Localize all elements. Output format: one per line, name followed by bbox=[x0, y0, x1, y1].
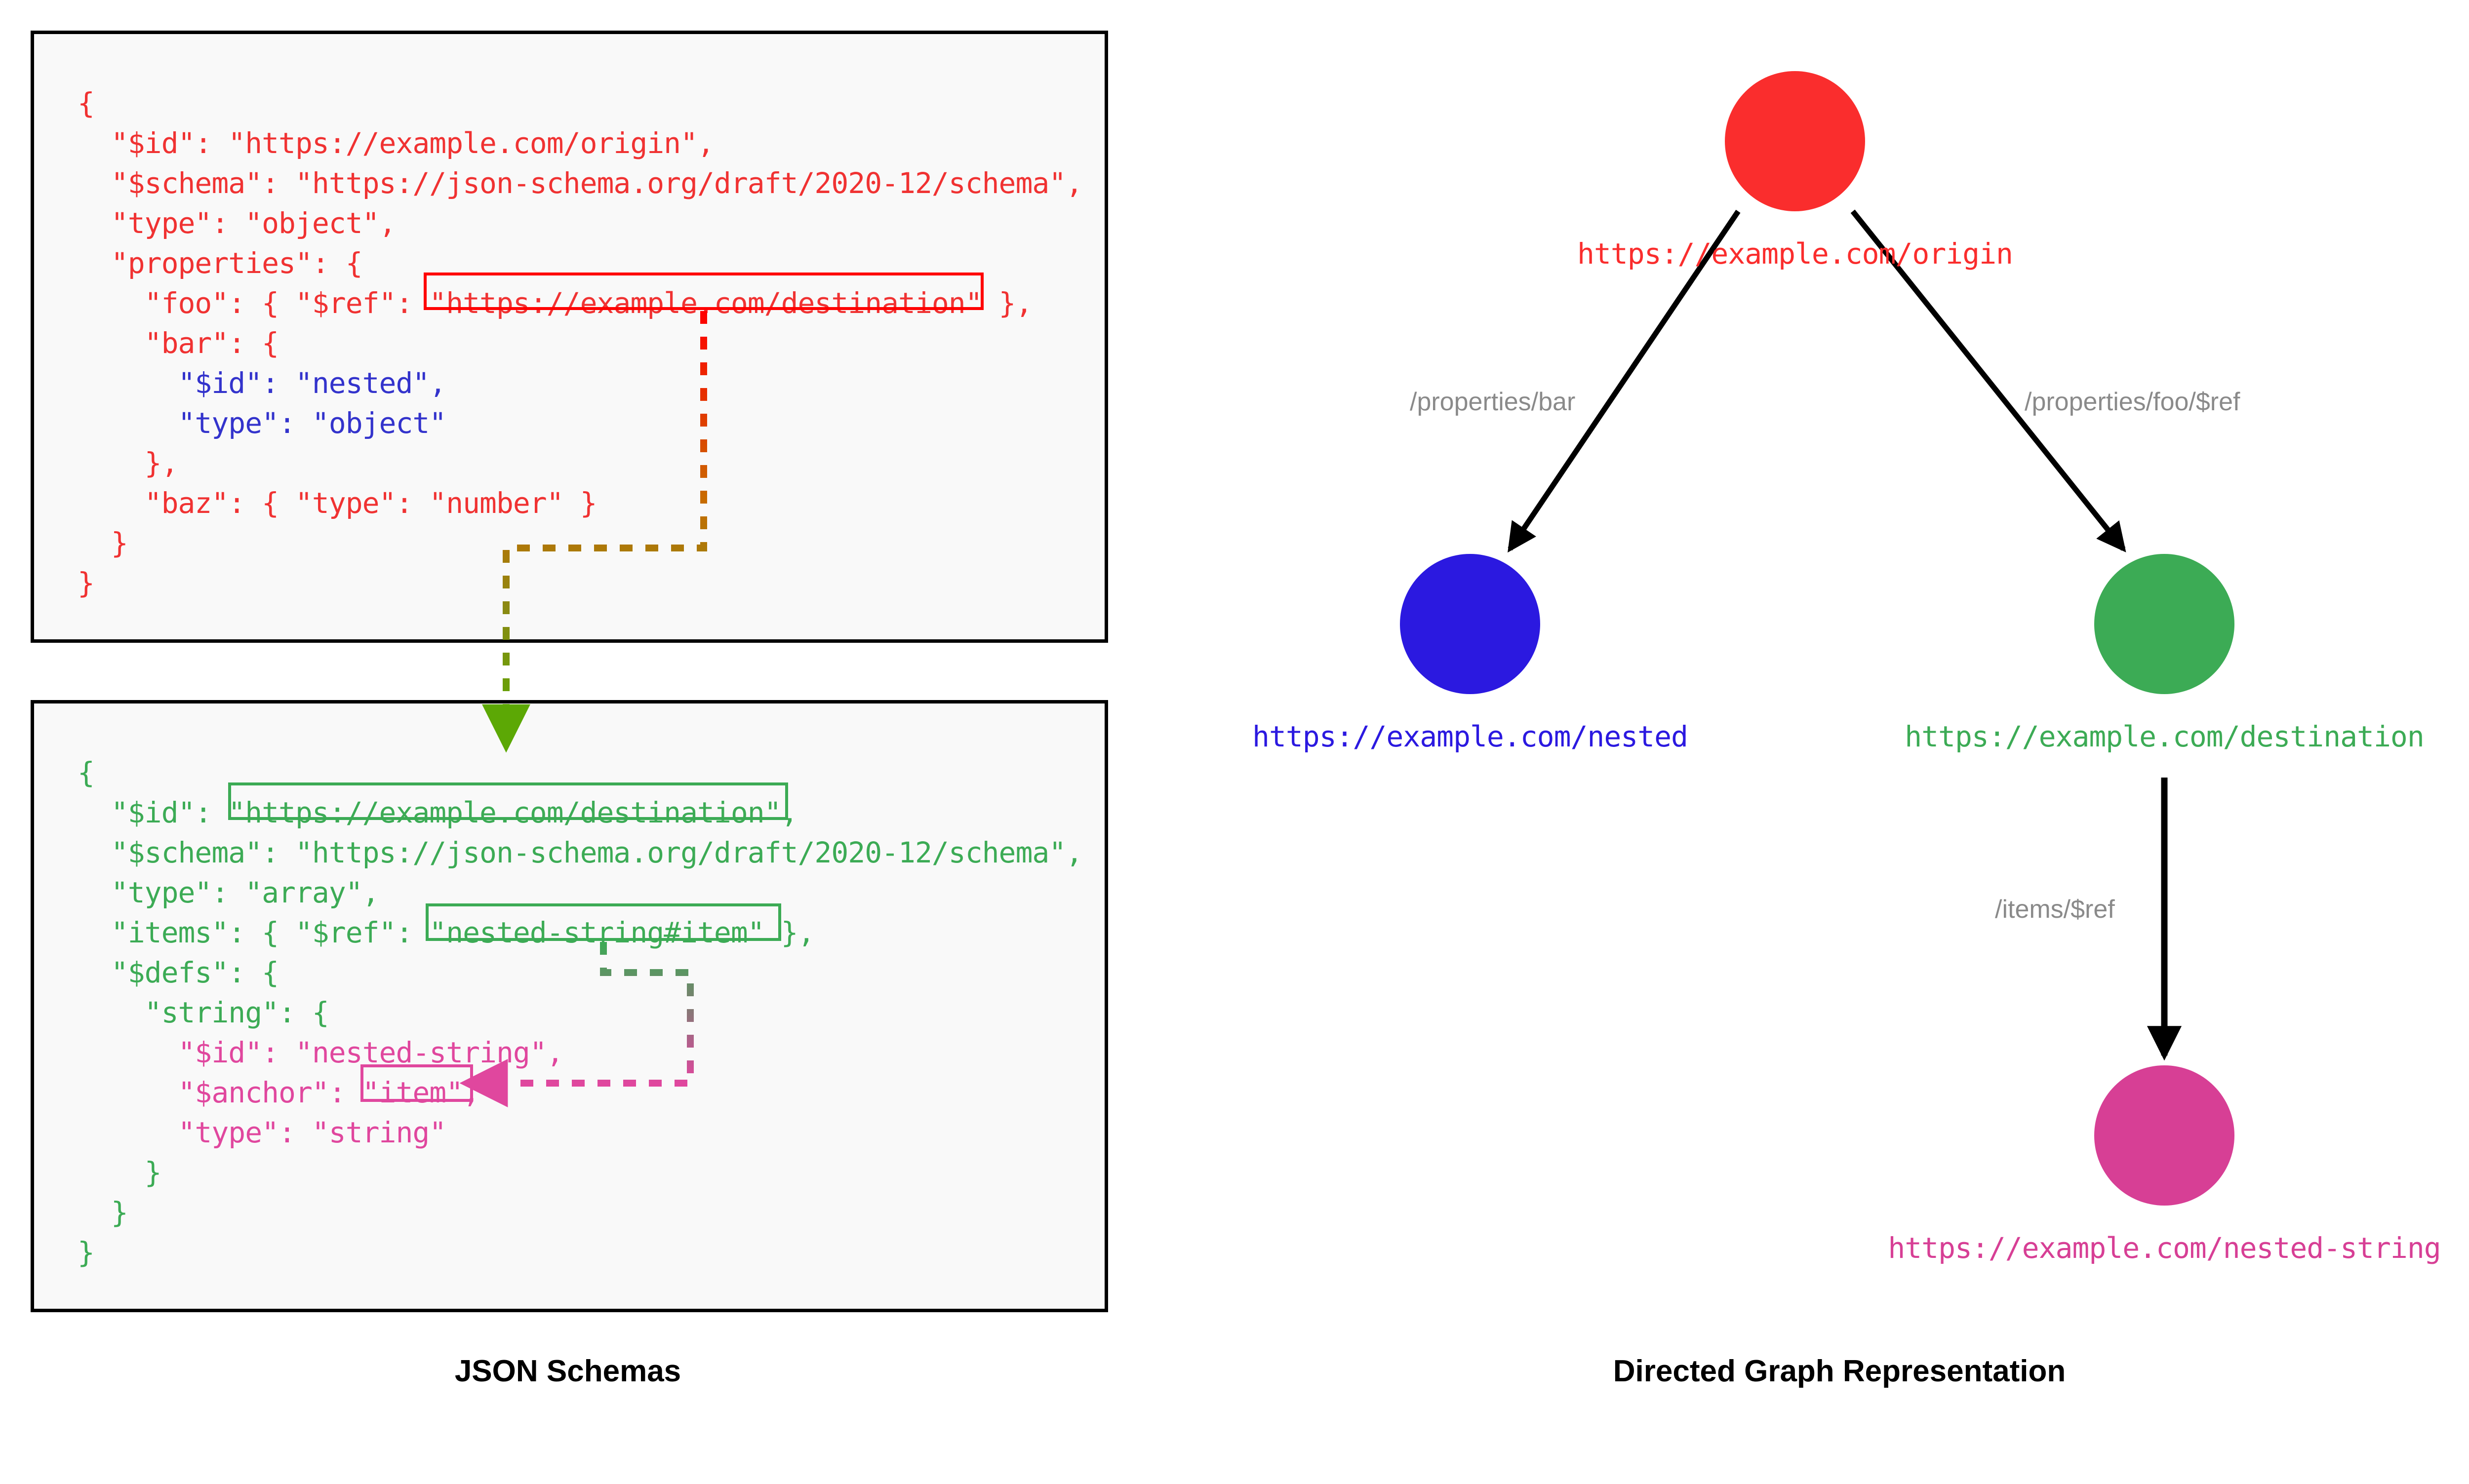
node-label-nested: https://example.com/nested bbox=[1075, 720, 1865, 753]
edge-label-items-ref: /items/$ref bbox=[1995, 895, 2115, 924]
connector-ref-to-destination bbox=[506, 311, 704, 726]
node-nested-string[interactable] bbox=[2094, 1065, 2234, 1206]
figure-canvas: { "$id": "https://example.com/origin", "… bbox=[0, 0, 2469, 1484]
edge-label-properties-bar: /properties/bar bbox=[1410, 387, 1575, 417]
node-label-destination: https://example.com/destination bbox=[1769, 720, 2469, 753]
node-nested[interactable] bbox=[1400, 554, 1540, 694]
node-destination[interactable] bbox=[2094, 554, 2234, 694]
node-label-nested-string: https://example.com/nested-string bbox=[1769, 1231, 2469, 1265]
caption-json-schemas: JSON Schemas bbox=[0, 1354, 1136, 1389]
node-origin[interactable] bbox=[1725, 71, 1865, 211]
node-label-origin: https://example.com/origin bbox=[1400, 237, 2190, 271]
caption-directed-graph: Directed Graph Representation bbox=[1185, 1354, 2469, 1389]
connector-ref-to-anchor bbox=[486, 942, 690, 1083]
edge-label-properties-foo-ref: /properties/foo/$ref bbox=[2025, 387, 2240, 417]
